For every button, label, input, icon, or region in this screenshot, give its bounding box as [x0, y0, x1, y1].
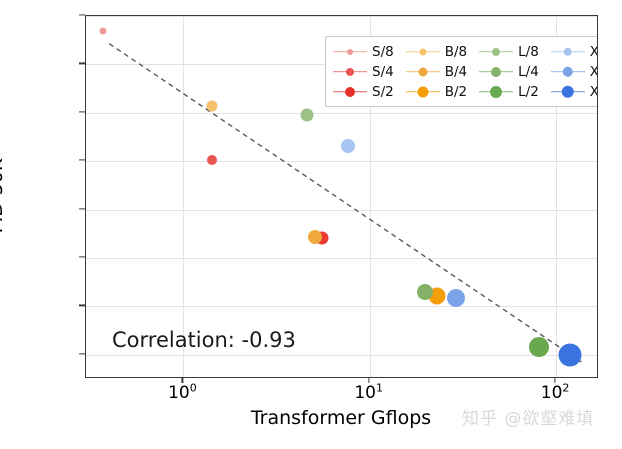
correlation-annotation: Correlation: -0.93: [112, 328, 296, 352]
legend-label: XL/2: [590, 84, 598, 100]
data-point-xl-2: [558, 344, 581, 367]
data-point-s-8: [100, 27, 107, 34]
legend-entry-l-2[interactable]: L/2: [479, 82, 539, 101]
legend-marker-icon: [479, 44, 513, 60]
scatter-chart-figure: FID-50K 20406080100120140160 100101102 T…: [0, 0, 622, 449]
x-tick-label: 102: [541, 383, 570, 403]
legend-marker-icon: [551, 44, 585, 60]
legend-label: L/2: [518, 84, 539, 100]
legend-marker-icon: [406, 44, 440, 60]
legend-label: S/8: [372, 44, 394, 60]
legend-entry-b-8[interactable]: B/8: [406, 42, 467, 61]
gridline-horizontal: [86, 113, 597, 114]
legend-entry-b-2[interactable]: B/2: [406, 82, 467, 101]
data-point-b-8: [206, 100, 217, 111]
legend-marker-icon: [406, 64, 440, 80]
y-axis-title: FID-50K: [0, 159, 7, 234]
gridline-horizontal: [86, 16, 597, 17]
x-tick-mark: [368, 378, 369, 383]
legend-marker-icon: [333, 64, 367, 80]
legend-entry-s-2[interactable]: S/2: [333, 82, 394, 101]
legend-entry-s-4[interactable]: S/4: [333, 62, 394, 81]
legend-marker-icon: [551, 64, 585, 80]
legend-marker-icon: [406, 84, 440, 100]
data-point-xl-4: [447, 289, 465, 307]
legend: S/8B/8L/8XL/8S/4B/4L/4XL/4S/2B/2L/2XL/2: [325, 36, 598, 107]
data-point-l-8: [300, 109, 313, 122]
legend-label: XL/8: [590, 44, 598, 60]
legend-label: B/4: [445, 64, 467, 80]
data-point-b-4: [308, 230, 322, 244]
gridline-horizontal: [86, 306, 597, 307]
legend-entry-l-4[interactable]: L/4: [479, 62, 539, 81]
x-tick-mark: [555, 378, 556, 383]
legend-entry-xl-4[interactable]: XL/4: [551, 62, 598, 81]
gridline-horizontal: [86, 161, 597, 162]
legend-entry-l-8[interactable]: L/8: [479, 42, 539, 61]
legend-label: B/8: [445, 44, 467, 60]
legend-marker-icon: [479, 64, 513, 80]
legend-entry-b-4[interactable]: B/4: [406, 62, 467, 81]
x-tick-label: 101: [354, 383, 383, 403]
legend-label: L/8: [518, 44, 539, 60]
data-point-xl-8: [341, 139, 355, 153]
data-point-l-4: [417, 284, 433, 300]
legend-label: S/4: [372, 64, 394, 80]
legend-marker-icon: [479, 84, 513, 100]
plot-area: Correlation: -0.93 S/8B/8L/8XL/8S/4B/4L/…: [85, 15, 598, 378]
legend-marker-icon: [333, 44, 367, 60]
data-point-l-2: [529, 337, 549, 357]
data-point-s-4: [207, 155, 217, 165]
legend-label: B/2: [445, 84, 467, 100]
legend-entry-s-8[interactable]: S/8: [333, 42, 394, 61]
x-tick-label: 100: [168, 383, 197, 403]
watermark: 知乎 @欲壑难填: [462, 404, 594, 429]
x-tick-mark: [182, 378, 183, 383]
legend-marker-icon: [551, 84, 585, 100]
legend-entry-xl-2[interactable]: XL/2: [551, 82, 598, 101]
x-axis-title: Transformer Gflops: [251, 407, 431, 429]
legend-label: S/2: [372, 84, 394, 100]
legend-label: XL/4: [590, 64, 598, 80]
legend-marker-icon: [333, 84, 367, 100]
gridline-vertical: [183, 16, 184, 377]
legend-label: L/4: [518, 64, 539, 80]
gridline-horizontal: [86, 210, 597, 211]
gridline-horizontal: [86, 258, 597, 259]
legend-entry-xl-8[interactable]: XL/8: [551, 42, 598, 61]
gridline-horizontal: [86, 355, 597, 356]
